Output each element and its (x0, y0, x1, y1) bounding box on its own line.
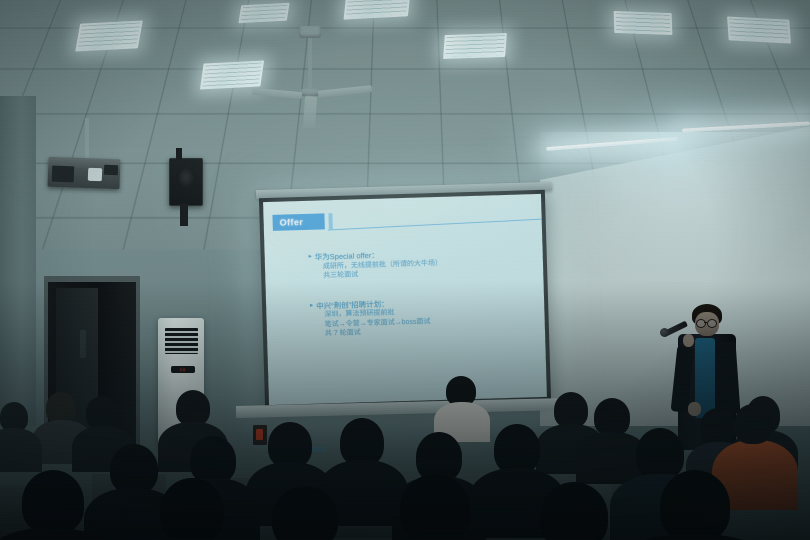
audience-head (110, 444, 158, 494)
presenter-glasses-lens (707, 319, 717, 328)
presenter-arm (718, 341, 741, 414)
air-conditioner-display: 26 (171, 366, 195, 373)
slide-tab-accent (328, 213, 332, 229)
left-wall-column (0, 96, 36, 426)
ceiling-light-panel (614, 11, 673, 35)
bullet-arrow-icon: ▸ (310, 301, 313, 311)
ceiling-fan-rod (308, 34, 312, 90)
slide-bullet-area: ▸ 华为Special offer： 成研所，无线提前批（所谓的大牛场） 共三轮… (309, 246, 538, 353)
slide-header-rule (328, 219, 542, 231)
door-glass-panel (80, 330, 86, 358)
audience-head (494, 424, 540, 474)
audience-head (176, 390, 210, 426)
bullet-arrow-icon: ▸ (309, 253, 312, 263)
audience-shoulders (0, 428, 42, 472)
ceiling-light-panel (75, 20, 143, 51)
slide-title-tab: Offer (272, 213, 324, 231)
audience-head (636, 428, 684, 480)
projection-screen: Offer ▸ 华为Special offer： 成研所，无线提前批（所谓的大牛… (263, 194, 547, 405)
ceiling-light-panel (200, 60, 264, 89)
audience-head (700, 408, 736, 446)
audience-head (86, 396, 118, 430)
audience-head (660, 470, 730, 540)
ceiling-light-panel (238, 3, 289, 23)
audience-head (734, 404, 772, 444)
fire-extinguisher-body (256, 429, 263, 440)
ceiling-fan-blade (303, 96, 317, 129)
slide-block: ▸ 华为Special offer： 成研所，无线提前批（所谓的大牛场） 共三轮… (309, 246, 536, 281)
presenter-glasses-lens (696, 319, 706, 328)
loudspeaker-cone (176, 168, 195, 189)
audience-head (554, 392, 588, 428)
air-conditioner-vent (165, 328, 198, 354)
projector-lens (88, 168, 102, 181)
audience-head (190, 436, 236, 484)
presenter-hand (683, 334, 694, 347)
lecture-hall-photo: 26 Offer ▸ 华为Special offer： 成研所，无线提前批（所谓… (0, 0, 810, 540)
ceiling-light-panel (443, 33, 507, 59)
loudspeaker-bracket (180, 204, 188, 226)
projector-vent (104, 165, 118, 175)
fire-extinguisher-box[interactable] (253, 425, 267, 445)
wall-loudspeaker (169, 158, 203, 206)
audience-head (340, 418, 384, 466)
audience-head (594, 398, 630, 436)
projector-mount-pole (85, 118, 89, 160)
presenter-glasses-bridge (704, 322, 707, 323)
ceiling-light-panel (727, 16, 791, 43)
air-conditioner-temp: 26 (180, 367, 186, 372)
slide-block: ▸ 中兴“荆创”招聘计划： 深圳，算法预研提前批 笔试→令营→专家面试→boss… (310, 295, 537, 340)
audience-head (160, 478, 224, 540)
slide-title-label: Offer (280, 217, 304, 228)
loudspeaker-bracket (176, 148, 182, 160)
microphone-head (660, 328, 669, 337)
audience-head (22, 470, 84, 534)
presentation-slide: Offer ▸ 华为Special offer： 成研所，无线提前批（所谓的大牛… (263, 194, 547, 405)
ceiling-fan-motor (299, 26, 321, 38)
tube-light-glow (540, 132, 810, 282)
projector-body-detail (52, 166, 75, 183)
presenter-hand (688, 402, 701, 416)
audience-head (400, 474, 470, 540)
